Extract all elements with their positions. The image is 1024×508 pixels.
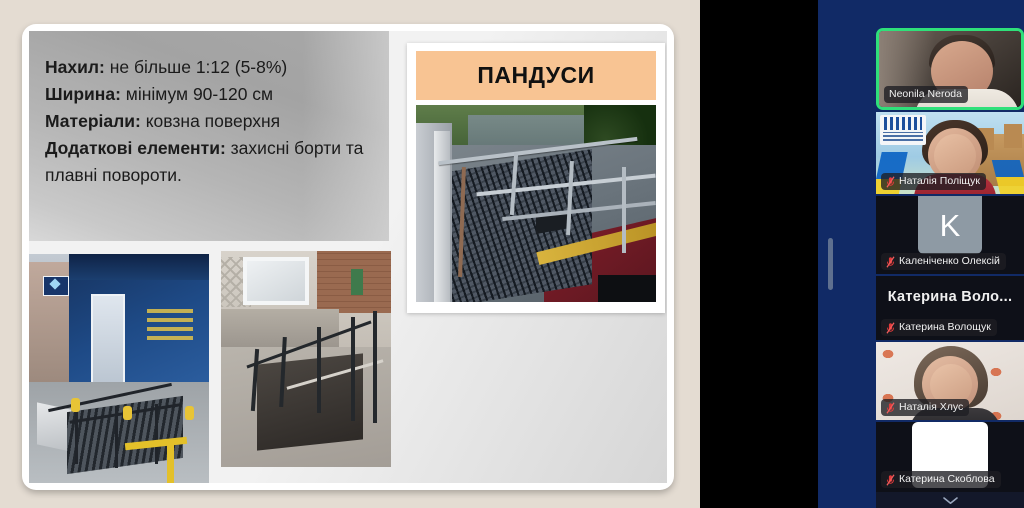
letterbox-black-bar — [700, 0, 818, 508]
participant-name-chip: Наталія Поліщук — [881, 173, 986, 190]
participant-name-chip: Наталія Хлус — [881, 399, 969, 416]
participant-avatar: K — [918, 196, 982, 254]
participant-display-name-large: Катерина Воло... — [876, 289, 1024, 305]
bullet-label-incline: Нахил: — [45, 57, 105, 77]
main-ramp-photo — [416, 105, 656, 302]
bullet-item-extras: Додаткові елементи: захисні борти та пла… — [45, 135, 375, 189]
participant-name-label: Каленіченко Олексій — [899, 253, 1000, 270]
presentation-slide: Нахил: не більше 1:12 (5-8%) Ширина: мін… — [29, 31, 667, 483]
participant-name-chip: Катерина Волощук — [881, 319, 997, 336]
shared-screen-stage: Нахил: не більше 1:12 (5-8%) Ширина: мін… — [0, 0, 700, 508]
microphone-muted-icon — [886, 474, 895, 486]
participant-tile-nataliia-khlus[interactable]: Наталія Хлус — [876, 342, 1024, 420]
chevron-down-icon — [942, 496, 959, 505]
bullet-label-materials: Матеріали: — [45, 111, 141, 131]
bullet-item-incline: Нахил: не більше 1:12 (5-8%) — [45, 54, 375, 81]
slide-title-text: ПАНДУСИ — [477, 62, 594, 89]
participant-tile-kalenichenko-oleksii[interactable]: K Каленіченко Олексій — [876, 196, 1024, 274]
participant-tile-kateryna-skoblova[interactable]: Катерина Скоблова — [876, 422, 1024, 492]
participant-tile-neonila-neroda[interactable]: Neonila Neroda — [876, 28, 1024, 110]
participant-tile-kateryna-voloshchuk[interactable]: Катерина Воло... Катерина Волощук — [876, 276, 1024, 340]
narrow-ramp-photo — [221, 251, 391, 467]
bullet-label-extras: Додаткові елементи: — [45, 138, 226, 158]
bullet-label-width: Ширина: — [45, 84, 121, 104]
participant-gallery-strip[interactable]: Neonila Neroda Наталія Поліщук — [818, 0, 1024, 508]
bullet-value-width: мінімум 90-120 см — [126, 84, 273, 104]
participant-name-chip: Катерина Скоблова — [881, 471, 1001, 488]
participant-name-label: Наталія Хлус — [899, 399, 963, 416]
slide-bullet-list: Нахил: не більше 1:12 (5-8%) Ширина: мін… — [45, 54, 375, 189]
main-photo-frame: ПАНДУСИ — [407, 43, 665, 313]
microphone-muted-icon — [886, 176, 895, 188]
bullet-item-materials: Матеріали: ковзна поверхня — [45, 108, 375, 135]
gallery-scrollbar-track[interactable] — [823, 0, 828, 508]
avatar-initial: K — [940, 210, 961, 241]
gallery-scroll-down-button[interactable] — [876, 492, 1024, 508]
bullet-value-incline: не більше 1:12 (5-8%) — [110, 57, 288, 77]
microphone-muted-icon — [886, 402, 895, 414]
gallery-scrollbar-thumb[interactable] — [828, 238, 833, 290]
participant-name-label: Катерина Волощук — [899, 319, 991, 336]
participant-name-chip: Каленіченко Олексій — [881, 253, 1006, 270]
bullet-item-width: Ширина: мінімум 90-120 см — [45, 81, 375, 108]
participant-name-label: Наталія Поліщук — [899, 173, 980, 190]
participant-tile-nataliia-polishchuk[interactable]: Наталія Поліщук — [876, 112, 1024, 194]
slide-title-banner: ПАНДУСИ — [416, 51, 656, 100]
microphone-muted-icon — [886, 256, 895, 268]
participant-name-chip: Neonila Neroda — [884, 86, 968, 103]
participant-name-label: Neonila Neroda — [889, 86, 962, 103]
bullet-value-materials: ковзна поверхня — [146, 111, 280, 131]
participant-name-label: Катерина Скоблова — [899, 471, 995, 488]
presentation-slide-card: Нахил: не більше 1:12 (5-8%) Ширина: мін… — [22, 24, 674, 490]
storefront-ramp-photo — [29, 254, 209, 483]
microphone-muted-icon — [886, 322, 895, 334]
